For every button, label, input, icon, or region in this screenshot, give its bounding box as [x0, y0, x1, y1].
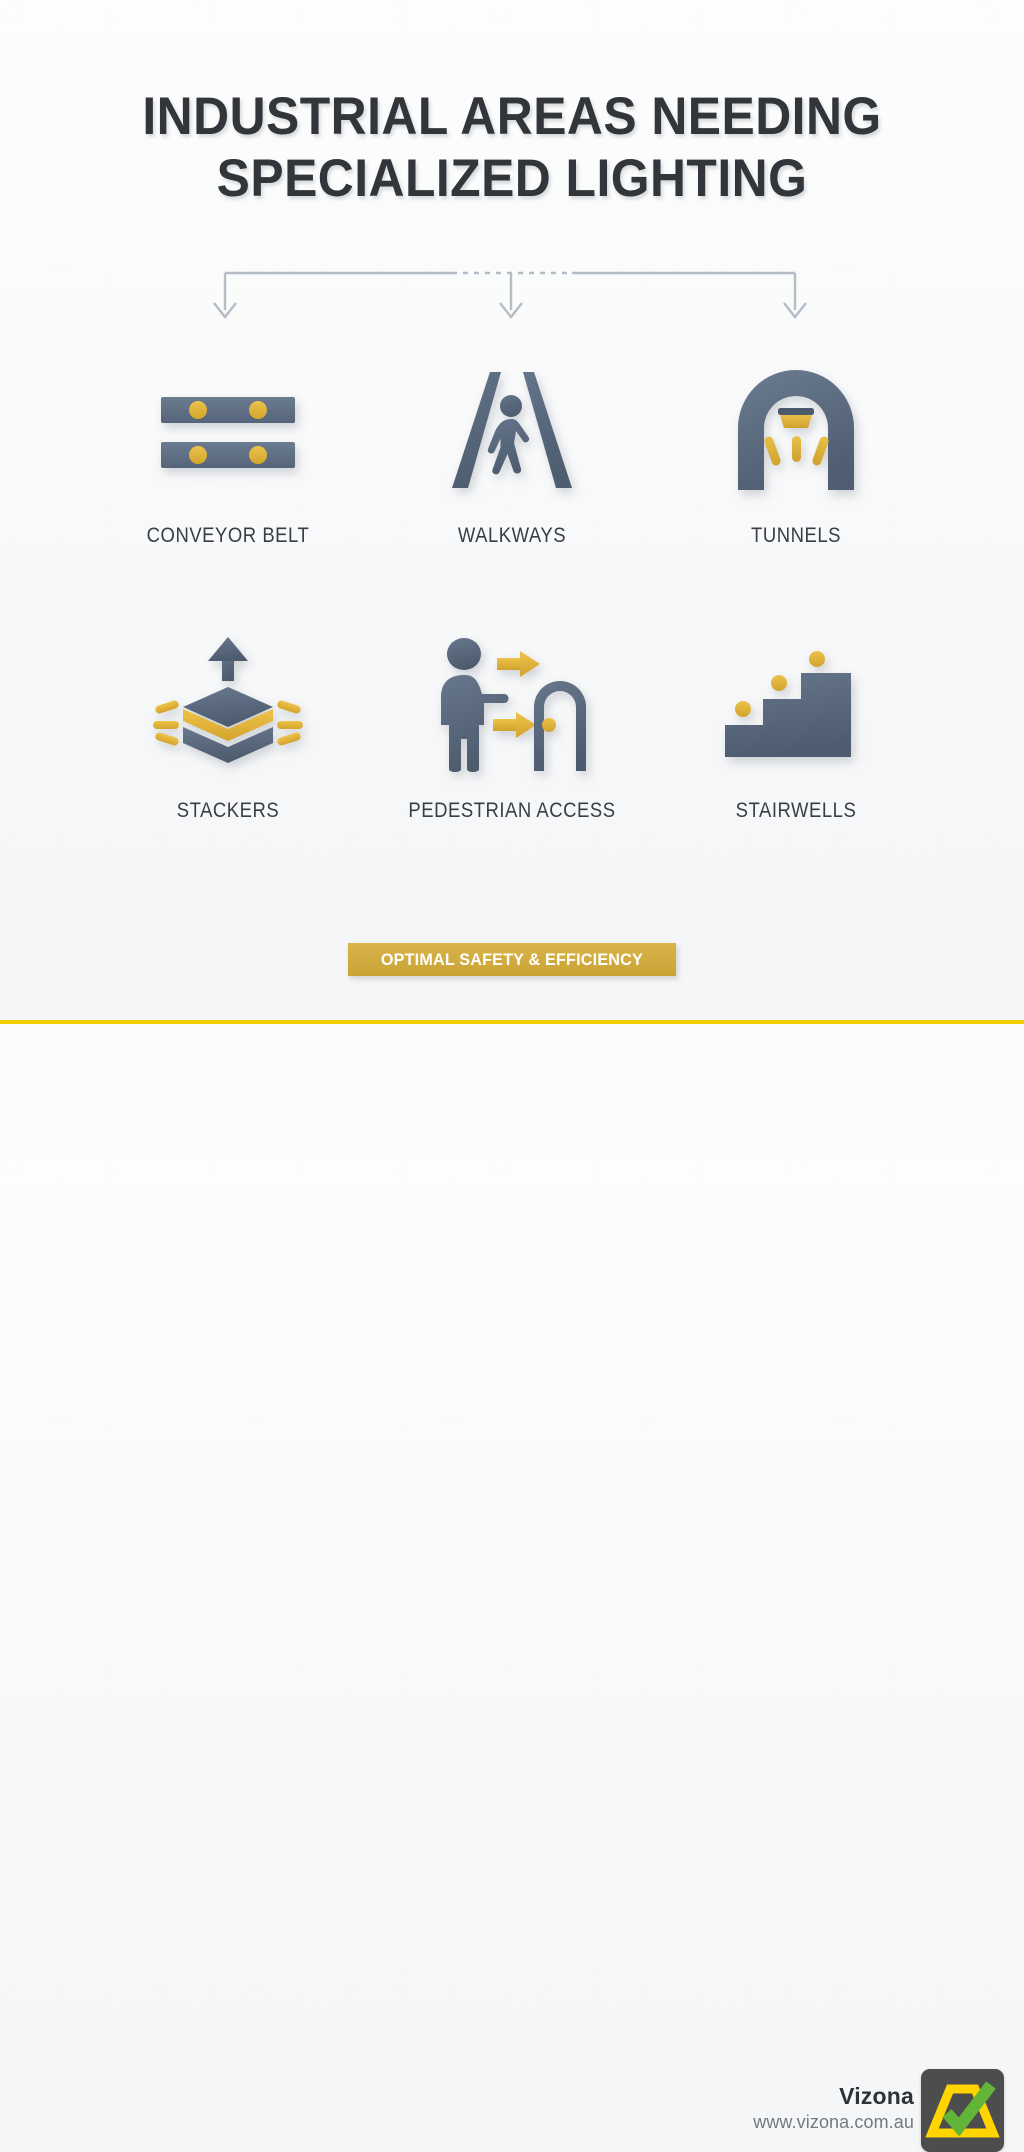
branch-connector: [0, 255, 1024, 335]
shine-lines-left: [153, 699, 180, 746]
stacker-icon: [78, 635, 378, 775]
pedestrian-access-icon: [362, 635, 662, 775]
step-light-3: [809, 651, 825, 667]
up-arrow-icon: [208, 637, 248, 681]
category-tunnels[interactable]: TUNNELS: [646, 360, 946, 548]
brand-block: Vizona www.vizona.com.au: [753, 2082, 914, 2134]
conveyor-belt-icon: [78, 360, 378, 500]
stairwell-icon: [646, 635, 946, 775]
category-label: PEDESTRIAN ACCESS: [380, 799, 644, 823]
category-pedestrian-access[interactable]: PEDESTRIAN ACCESS: [362, 635, 662, 823]
banner-label: OPTIMAL SAFETY & EFFICIENCY: [381, 950, 643, 970]
shine-lines-right: [276, 699, 303, 746]
category-label: STACKERS: [96, 799, 360, 823]
optimal-safety-banner: OPTIMAL SAFETY & EFFICIENCY: [348, 943, 676, 976]
category-stackers[interactable]: STACKERS: [78, 635, 378, 823]
category-label: STAIRWELLS: [664, 799, 928, 823]
title-line-1: INDUSTRIAL AREAS NEEDING: [142, 87, 881, 146]
brand-website[interactable]: www.vizona.com.au: [753, 2110, 914, 2134]
category-label: CONVEYOR BELT: [96, 524, 360, 548]
arrow-right-icon-bottom: [493, 712, 536, 738]
category-walkways[interactable]: WALKWAYS: [362, 360, 662, 548]
infographic-page: INDUSTRIAL AREAS NEEDING SPECIALIZED LIG…: [0, 0, 1024, 1154]
step-light-2: [771, 675, 787, 691]
category-grid: CONVEYOR BELT: [0, 360, 1024, 910]
pedestrian-figure: [488, 395, 529, 474]
brand-name: Vizona: [753, 2082, 914, 2110]
category-label: TUNNELS: [664, 524, 928, 548]
category-row-1: CONVEYOR BELT: [0, 360, 1024, 635]
light-rays: [763, 435, 830, 466]
category-label: WALKWAYS: [380, 524, 644, 548]
walkway-icon: [362, 360, 662, 500]
doorway-arch: [534, 681, 586, 771]
step-light-1: [735, 701, 751, 717]
footer: Vizona www.vizona.com.au: [0, 1024, 1024, 1154]
page-title: INDUSTRIAL AREAS NEEDING SPECIALIZED LIG…: [31, 86, 994, 210]
tunnel-icon: [646, 360, 946, 500]
vizona-logo[interactable]: [921, 2069, 1004, 2152]
title-line-2: SPECIALIZED LIGHTING: [31, 148, 994, 210]
category-row-2: STACKERS: [0, 635, 1024, 910]
category-conveyor-belt[interactable]: CONVEYOR BELT: [78, 360, 378, 548]
arrow-right-icon-top: [497, 651, 540, 677]
category-stairwells[interactable]: STAIRWELLS: [646, 635, 946, 823]
access-indicator-dot: [542, 718, 556, 732]
